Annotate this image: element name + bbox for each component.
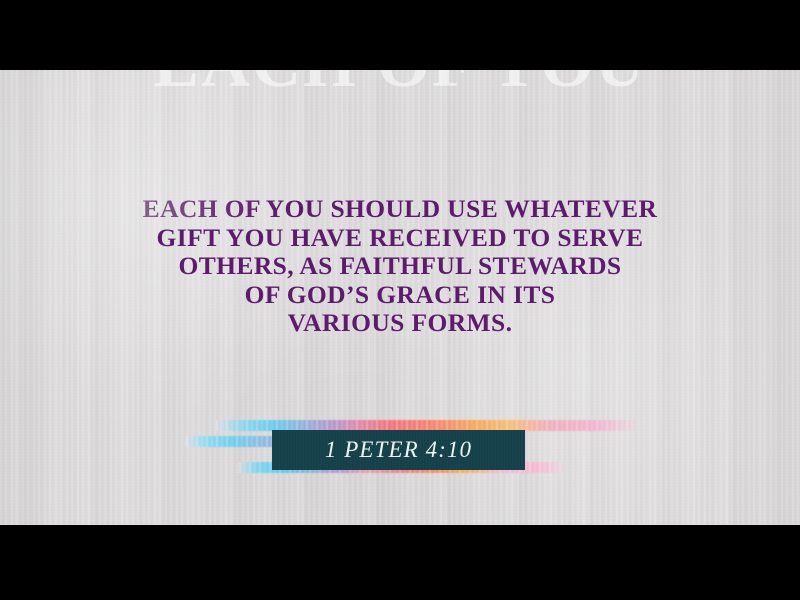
verse-line-1: EACH OF YOU SHOULD USE WHATEVER [0,195,800,224]
citation-reference-text: 1 PETER 4:10 [325,437,472,463]
verse-slide: EACH OF YOU EACH OF YOU SHOULD USE WHATE… [0,0,800,600]
verse-text-block: EACH OF YOU SHOULD USE WHATEVER GIFT YOU… [0,195,800,338]
verse-line-2: GIFT YOU HAVE RECEIVED TO SERVE [0,224,800,253]
letterbox-bottom-bar [0,525,800,600]
slide-canvas: EACH OF YOU EACH OF YOU SHOULD USE WHATE… [0,70,800,525]
verse-line-4: OF GOD’S GRACE IN ITS [0,281,800,310]
citation-banner-box: 1 PETER 4:10 [272,430,525,470]
citation-block: 1 PETER 4:10 [0,410,800,480]
ghost-headline-text: EACH OF YOU [0,70,800,103]
verse-line-3: OTHERS, AS FAITHFUL STEWARDS [0,252,800,281]
verse-line-5: VARIOUS FORMS. [0,309,800,338]
letterbox-top-bar [0,0,800,70]
